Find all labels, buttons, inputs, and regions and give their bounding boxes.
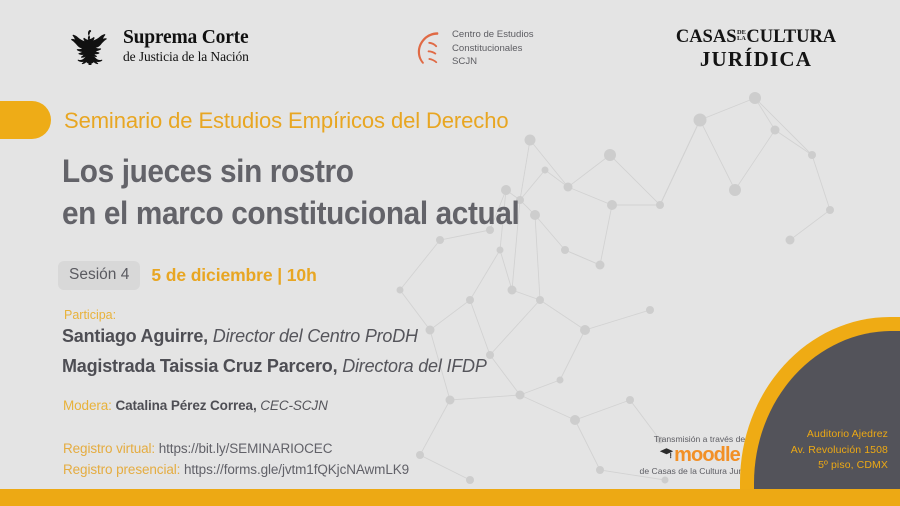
venue-line-3: 5º piso, CDMX xyxy=(791,458,888,473)
seminar-kicker: Seminario de Estudios Empíricos del Dere… xyxy=(64,108,508,134)
registration-virtual-label: Registro virtual: xyxy=(63,441,155,456)
moderator-name: Catalina Pérez Correa, xyxy=(115,398,256,413)
speaker-2-role: Directora del IFDP xyxy=(342,356,486,376)
logo-cec-line2: Constitucionales xyxy=(452,42,534,56)
page-title: Los jueces sin rostro en el marco consti… xyxy=(62,150,519,234)
session-row: Sesión 4 5 de diciembre | 10h xyxy=(58,261,317,290)
event-poster: Suprema Corte de Justicia de la Nación C… xyxy=(0,0,900,506)
logo-cec-line1: Centro de Estudios xyxy=(452,28,534,42)
bottom-amber-bar xyxy=(0,489,900,506)
logo-ccj-word-casas: CASAS xyxy=(676,28,737,47)
title-line-2: en el marco constitucional actual xyxy=(62,192,519,234)
venue-line-1: Auditorio Ajedrez xyxy=(791,427,888,442)
logo-ccj-dela: DE LA xyxy=(737,30,746,43)
eagle-emblem-icon xyxy=(66,26,114,66)
moodle-wordmark: moodle xyxy=(674,445,740,465)
logo-suprema-corte-text: Suprema Corte de Justicia de la Nación xyxy=(123,28,249,64)
registration-virtual-url[interactable]: https://bit.ly/SEMINARIOCEC xyxy=(159,441,333,456)
moodle-graduation-cap-icon xyxy=(659,447,674,462)
logo-centro-estudios-constitucionales: Centro de Estudios Constitucionales SCJN xyxy=(415,28,534,69)
moderator-label: Modera: xyxy=(63,398,112,413)
logo-ccj-line1: CASAS DE LA CULTURA xyxy=(690,28,822,47)
registration-presencial-url[interactable]: https://forms.gle/jvtm1fQKjcNAwmLK9 xyxy=(184,462,409,477)
speaker-1: Santiago Aguirre, Director del Centro Pr… xyxy=(62,326,418,347)
venue-address: Auditorio Ajedrez Av. Revolución 1508 5º… xyxy=(791,427,888,473)
logo-casas-cultura-juridica: CASAS DE LA CULTURA JURÍDICA xyxy=(690,28,822,71)
speaker-1-name: Santiago Aguirre, xyxy=(62,326,208,346)
logo-ccj-word-juridica: JURÍDICA xyxy=(690,48,822,71)
moderator-role: CEC-SCJN xyxy=(260,398,327,413)
moderator-row: Modera: Catalina Pérez Correa, CEC-SCJN xyxy=(63,398,328,413)
speaker-1-role: Director del Centro ProDH xyxy=(213,326,418,346)
cec-c-mark-icon xyxy=(415,30,444,67)
amber-accent-pill xyxy=(0,101,51,139)
header-logos: Suprema Corte de Justicia de la Nación C… xyxy=(0,0,900,88)
venue-panel-wrapper: Auditorio Ajedrez Av. Revolución 1508 5º… xyxy=(740,317,900,489)
logo-suprema-corte: Suprema Corte de Justicia de la Nación xyxy=(66,26,249,66)
registration-virtual[interactable]: Registro virtual: https://bit.ly/SEMINAR… xyxy=(63,441,332,456)
speaker-2: Magistrada Taissia Cruz Parcero, Directo… xyxy=(62,356,487,377)
registration-presencial-label: Registro presencial: xyxy=(63,462,180,477)
logo-ccj-small-la: LA xyxy=(737,36,746,43)
logo-scjn-line2: de Justicia de la Nación xyxy=(123,50,249,64)
registration-presencial[interactable]: Registro presencial: https://forms.gle/j… xyxy=(63,462,409,477)
logo-cec-line3: SCJN xyxy=(452,55,534,69)
title-line-1: Los jueces sin rostro xyxy=(62,150,519,192)
logo-ccj-word-cultura: CULTURA xyxy=(746,28,836,47)
session-date: 5 de diciembre | 10h xyxy=(151,265,316,286)
participa-label: Participa: xyxy=(64,308,116,322)
logo-scjn-line1: Suprema Corte xyxy=(123,28,249,49)
logo-cec-text: Centro de Estudios Constitucionales SCJN xyxy=(452,28,534,69)
session-badge: Sesión 4 xyxy=(58,261,140,290)
venue-line-2: Av. Revolución 1508 xyxy=(791,443,888,458)
speaker-2-name: Magistrada Taissia Cruz Parcero, xyxy=(62,356,337,376)
